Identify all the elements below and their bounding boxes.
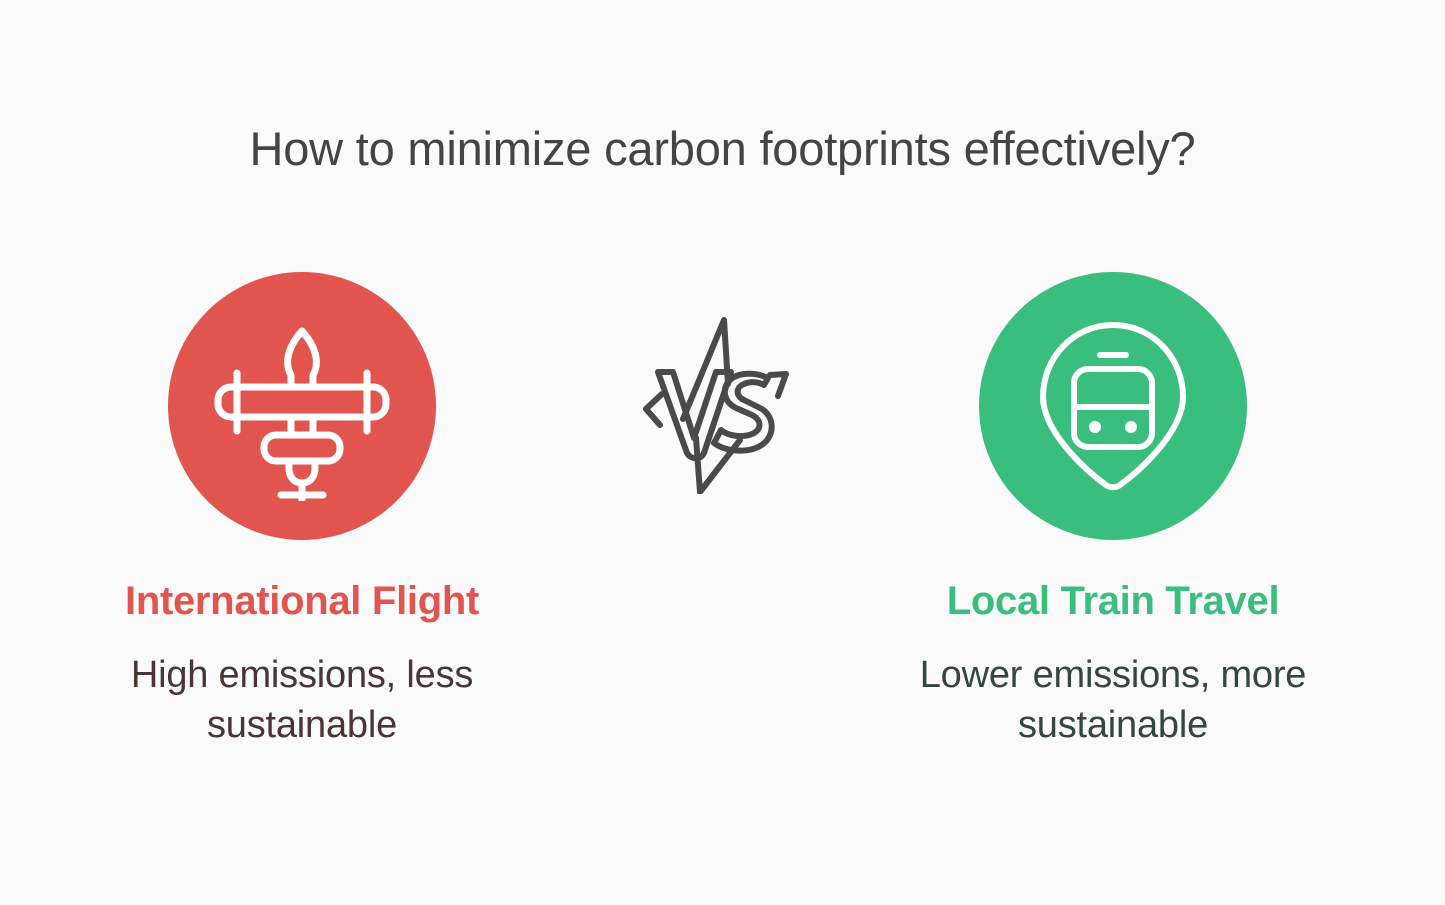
train-location-pin-icon-badge	[979, 272, 1247, 540]
vs-burst-icon	[628, 312, 804, 494]
option-label-international-flight: International Flight	[42, 578, 562, 624]
airplane-icon-badge	[168, 272, 436, 540]
comparison-infographic: How to minimize carbon footprints effect…	[0, 0, 1445, 905]
airplane-icon	[207, 311, 397, 501]
option-description-international-flight: High emissions, less sustainable	[42, 650, 562, 750]
option-card-international-flight: International Flight High emissions, les…	[42, 260, 562, 750]
vs-divider	[628, 312, 804, 494]
option-label-local-train-travel: Local Train Travel	[853, 578, 1373, 624]
page-title: How to minimize carbon footprints effect…	[0, 123, 1445, 175]
option-description-local-train-travel: Lower emissions, more sustainable	[853, 650, 1373, 750]
option-card-local-train-travel: Local Train Travel Lower emissions, more…	[853, 260, 1373, 750]
train-location-pin-icon	[1018, 311, 1208, 501]
